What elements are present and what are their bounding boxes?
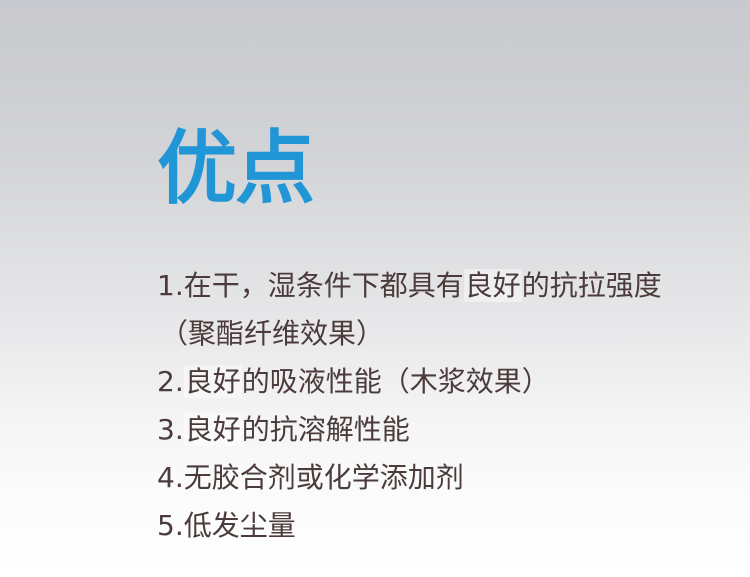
list-item-text-before: 在干，湿条件下都具有 (184, 269, 464, 302)
list-item: 3.良好的抗溶解性能 (157, 406, 737, 454)
list-item: 1.在干，湿条件下都具有良好的抗拉强度 (157, 262, 737, 310)
list-item-index: 1. (157, 269, 184, 302)
list-item-text-before: （聚酯纤维效果） (160, 317, 384, 350)
list-item: 5.低发尘量 (157, 502, 737, 550)
list-item-index: 2. (157, 365, 184, 398)
list-item-text-after: 的抗拉强度 (522, 269, 662, 302)
list-item-index: 5. (157, 509, 184, 542)
list-item-text-before: 低发尘量 (184, 509, 296, 542)
list-item: （聚酯纤维效果） (157, 310, 737, 358)
title-block: 优点 (157, 122, 313, 216)
list-item: 4.无胶合剂或化学添加剂 (157, 454, 737, 502)
list-item: 2.良好的吸液性能（木浆效果） (157, 358, 737, 406)
slide-canvas: 优点 1.在干，湿条件下都具有良好的抗拉强度 （聚酯纤维效果） 2.良好的吸液性… (0, 0, 750, 577)
list-item-text-after: 的抗溶解性能 (242, 413, 410, 446)
list-item-text-before: 无胶合剂或化学添加剂 (184, 461, 464, 494)
benefit-list: 1.在干，湿条件下都具有良好的抗拉强度 （聚酯纤维效果） 2.良好的吸液性能（木… (157, 262, 737, 550)
list-item-highlight: 良好 (184, 365, 242, 398)
list-item-highlight: 良好 (184, 413, 242, 446)
list-item-index: 3. (157, 413, 184, 446)
list-item-text-after: 的吸液性能（木浆效果） (242, 365, 550, 398)
page-title: 优点 (157, 122, 313, 216)
list-item-index: 4. (157, 461, 184, 494)
list-item-highlight: 良好 (464, 269, 522, 302)
